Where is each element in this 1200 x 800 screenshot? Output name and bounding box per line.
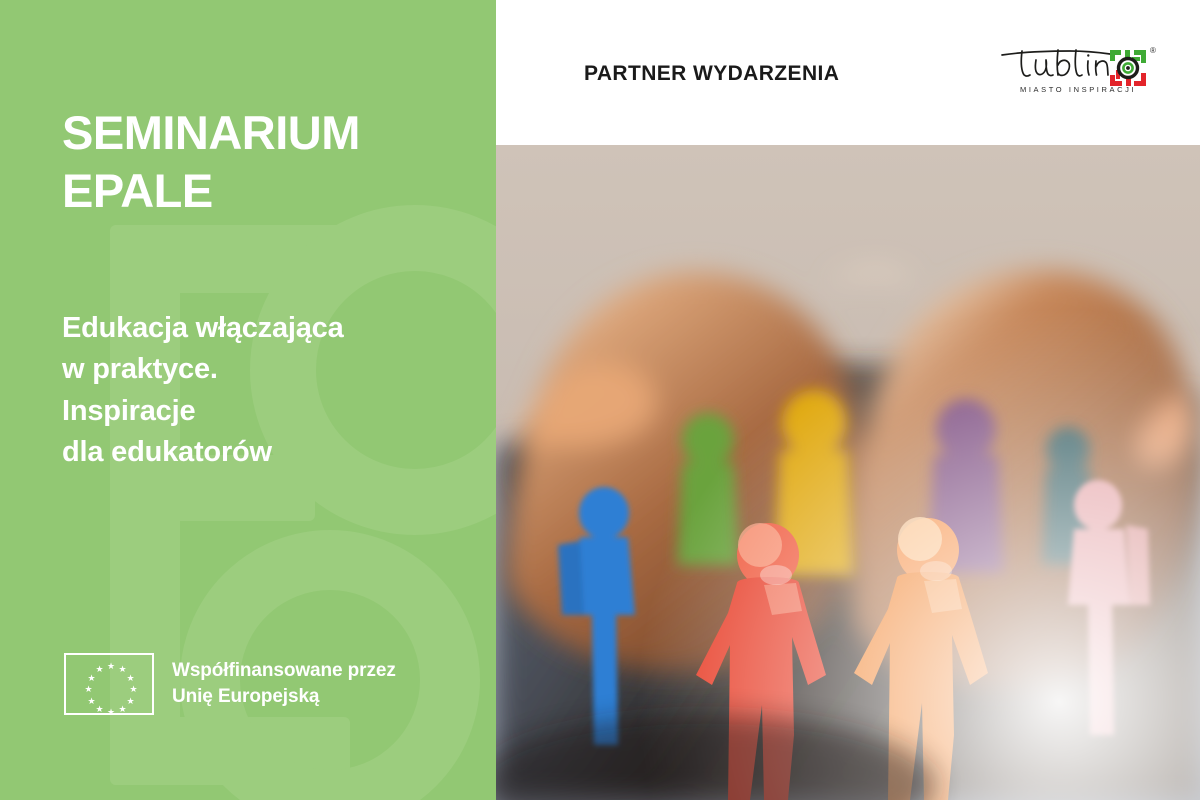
event-photo [496, 145, 1200, 800]
hands-with-figurines-illustration [496, 145, 1200, 800]
registered-trademark-symbol: ® [1150, 46, 1156, 55]
partner-label: PARTNER WYDARZENIA [584, 62, 839, 86]
event-banner: SEMINARIUM EPALE Edukacja włączająca w p… [0, 0, 1200, 800]
lublin-logo: MIASTO INSPIRACJI [1000, 42, 1160, 104]
european-union-flag-icon: ★ ★ ★ ★ ★ ★ ★ ★ ★ ★ ★ ★ [64, 653, 154, 715]
partner-header-strip: PARTNER WYDARZENIA [496, 0, 1200, 145]
page-subtitle: Edukacja włączająca w praktyce. Inspirac… [62, 308, 482, 474]
lublin-wordmark-icon [1000, 46, 1118, 82]
lublin-emblem-icon [1108, 48, 1148, 88]
left-green-panel: SEMINARIUM EPALE Edukacja włączająca w p… [0, 0, 496, 800]
eu-funding-label: Współfinansowane przez Unię Europejską [172, 658, 396, 710]
watermark-shape [110, 225, 350, 293]
page-title: SEMINARIUM EPALE [62, 104, 472, 220]
eu-funding-logo: ★ ★ ★ ★ ★ ★ ★ ★ ★ ★ ★ ★ Współfinansowane… [64, 653, 396, 715]
watermark-shape [110, 717, 350, 785]
